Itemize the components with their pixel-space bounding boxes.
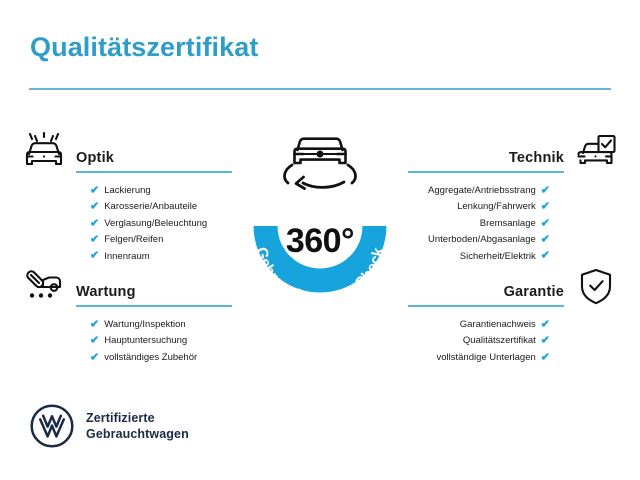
list-item: ✔Hauptuntersuchung bbox=[90, 333, 232, 349]
section-title: Technik bbox=[408, 150, 564, 171]
section-title: Wartung bbox=[76, 284, 232, 305]
section-header: Optik bbox=[22, 128, 232, 174]
badge-360-gebrauchtwagen-check: Gebrauchtwagen-Check 360° bbox=[232, 118, 408, 314]
list-item: ✔Garantienachweis bbox=[408, 317, 550, 333]
list-item-label: Hauptuntersuchung bbox=[104, 333, 187, 349]
check-icon: ✔ bbox=[541, 202, 550, 213]
checklist-technik: ✔Aggregate/Antriebsstrang ✔Lenkung/Fahrw… bbox=[408, 183, 618, 265]
vw-logo bbox=[30, 404, 74, 448]
section-title-wrap: Technik bbox=[408, 150, 564, 174]
section-title-wrap: Garantie bbox=[408, 284, 564, 308]
list-item-label: Garantienachweis bbox=[460, 317, 536, 333]
section-title: Garantie bbox=[408, 284, 564, 305]
section-garantie: Garantie ✔Garantienachweis ✔Qualitätszer… bbox=[408, 262, 618, 366]
check-icon: ✔ bbox=[541, 336, 550, 347]
check-icon: ✔ bbox=[541, 218, 550, 229]
check-icon: ✔ bbox=[90, 185, 99, 196]
section-header: Garantie bbox=[408, 262, 618, 308]
list-item-label: Verglasung/Beleuchtung bbox=[104, 216, 207, 232]
check-icon: ✔ bbox=[90, 251, 99, 262]
check-icon: ✔ bbox=[90, 352, 99, 363]
checklist-optik: ✔Lackierung ✔Karosserie/Anbauteile ✔Verg… bbox=[22, 183, 232, 265]
footer-line-2: Gebrauchtwagen bbox=[86, 426, 189, 442]
badge-svg: Gebrauchtwagen-Check bbox=[232, 118, 408, 314]
section-title-wrap: Optik bbox=[76, 150, 232, 174]
check-icon: ✔ bbox=[541, 251, 550, 262]
check-icon: ✔ bbox=[90, 202, 99, 213]
list-item: ✔Felgen/Reifen bbox=[90, 232, 232, 248]
list-item: ✔Bremsanlage bbox=[408, 216, 550, 232]
vw-logo-svg bbox=[30, 404, 74, 448]
section-header: Technik bbox=[408, 128, 618, 174]
list-item: ✔Karosserie/Anbauteile bbox=[90, 199, 232, 215]
list-item-label: vollständiges Zubehör bbox=[104, 350, 197, 366]
list-item-label: vollständige Unterlagen bbox=[436, 350, 535, 366]
list-item: ✔Qualitätszertifikat bbox=[408, 333, 550, 349]
section-divider bbox=[408, 305, 564, 307]
check-icon: ✔ bbox=[541, 352, 550, 363]
list-item: ✔Aggregate/Antriebsstrang bbox=[408, 183, 550, 199]
section-optik: Optik ✔Lackierung ✔Karosserie/Anbauteile… bbox=[22, 128, 232, 265]
section-technik: Technik ✔Aggregate/Antriebsstrang ✔Lenku… bbox=[408, 128, 618, 265]
check-icon: ✔ bbox=[90, 336, 99, 347]
check-icon: ✔ bbox=[90, 234, 99, 245]
badge-degree-label: 360° bbox=[232, 222, 408, 261]
section-divider bbox=[76, 305, 232, 307]
list-item: ✔Lackierung bbox=[90, 183, 232, 199]
list-item: ✔vollständiges Zubehör bbox=[90, 350, 232, 366]
check-icon: ✔ bbox=[541, 185, 550, 196]
rotation-arrow-icon bbox=[285, 165, 356, 189]
check-icon: ✔ bbox=[90, 319, 99, 330]
car-front-rotate-icon bbox=[295, 139, 346, 163]
list-item-label: Felgen/Reifen bbox=[104, 232, 163, 248]
list-item-label: Qualitätszertifikat bbox=[463, 333, 536, 349]
footer-text: Zertifizierte Gebrauchtwagen bbox=[86, 410, 189, 442]
list-item-label: Unterboden/Abgasanlage bbox=[428, 232, 536, 248]
list-item-label: Karosserie/Anbauteile bbox=[104, 199, 197, 215]
section-title-wrap: Wartung bbox=[76, 284, 232, 308]
section-title: Optik bbox=[76, 150, 232, 171]
check-icon: ✔ bbox=[541, 234, 550, 245]
list-item-label: Lenkung/Fahrwerk bbox=[457, 199, 536, 215]
list-item: ✔Lenkung/Fahrwerk bbox=[408, 199, 550, 215]
list-item-label: Aggregate/Antriebsstrang bbox=[428, 183, 536, 199]
section-header: Wartung bbox=[22, 262, 232, 308]
check-icon: ✔ bbox=[541, 319, 550, 330]
wrench-car-icon bbox=[22, 266, 66, 308]
list-item: ✔vollständige Unterlagen bbox=[408, 350, 550, 366]
check-icon: ✔ bbox=[90, 218, 99, 229]
section-divider bbox=[408, 171, 564, 173]
car-shine-icon bbox=[22, 132, 66, 174]
list-item-label: Lackierung bbox=[104, 183, 150, 199]
car-checkbox-icon bbox=[574, 132, 618, 174]
page-title: Qualitätszertifikat bbox=[30, 32, 258, 63]
footer-line-1: Zertifizierte bbox=[86, 410, 189, 426]
title-divider bbox=[29, 88, 611, 90]
checklist-garantie: ✔Garantienachweis ✔Qualitätszertifikat ✔… bbox=[408, 317, 618, 366]
list-item: ✔Wartung/Inspektion bbox=[90, 317, 232, 333]
shield-check-icon bbox=[574, 266, 618, 308]
section-divider bbox=[76, 171, 232, 173]
list-item-label: Bremsanlage bbox=[480, 216, 536, 232]
section-wartung: Wartung ✔Wartung/Inspektion ✔Hauptunters… bbox=[22, 262, 232, 366]
list-item: ✔Unterboden/Abgasanlage bbox=[408, 232, 550, 248]
checklist-wartung: ✔Wartung/Inspektion ✔Hauptuntersuchung ✔… bbox=[22, 317, 232, 366]
list-item: ✔Verglasung/Beleuchtung bbox=[90, 216, 232, 232]
list-item-label: Wartung/Inspektion bbox=[104, 317, 186, 333]
footer-brand: Zertifizierte Gebrauchtwagen bbox=[30, 404, 189, 448]
